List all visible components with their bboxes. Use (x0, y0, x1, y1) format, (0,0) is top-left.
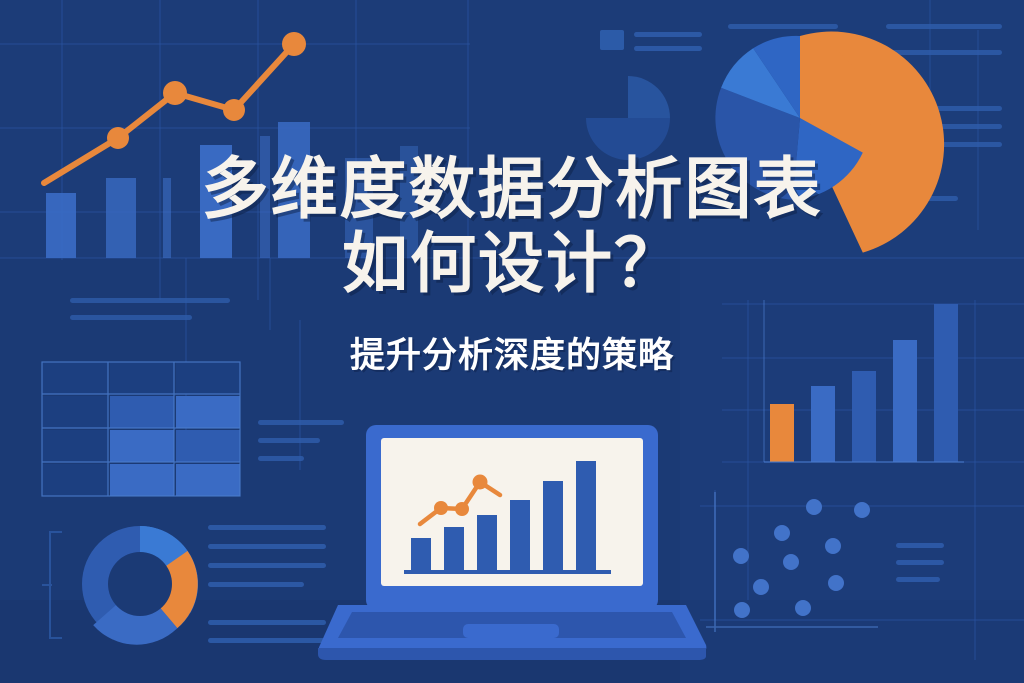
page-title-line-2: 如何设计？ (0, 227, 1024, 301)
laptop-foot (318, 648, 706, 660)
page-title-line-1: 多维度数据分析图表 (0, 152, 1024, 227)
title-block: 多维度数据分析图表 如何设计？ 提升分析深度的策略 (0, 152, 1024, 378)
page-subtitle: 提升分析深度的策略 (0, 327, 1024, 378)
laptop-trackpad (463, 624, 559, 638)
poster-canvas: 多维度数据分析图表 如何设计？ 提升分析深度的策略 (0, 0, 1024, 683)
